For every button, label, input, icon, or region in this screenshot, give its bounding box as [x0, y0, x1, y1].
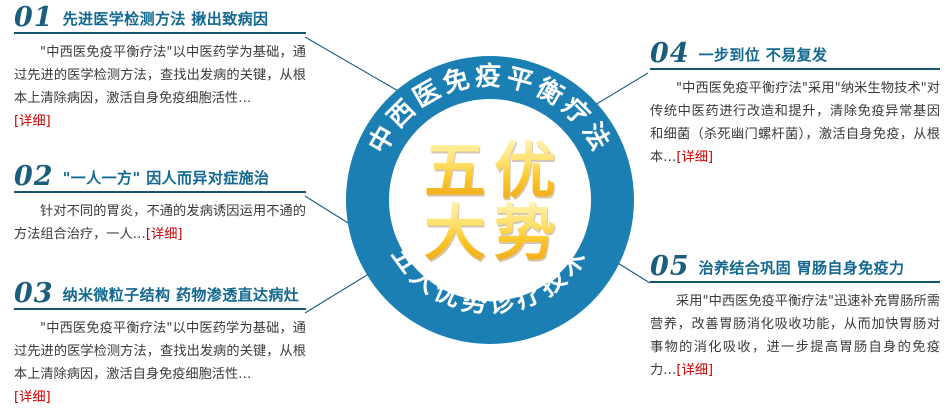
feature-heading-05: 05 治养结合巩固 胃肠自身免疫力 [650, 253, 940, 280]
feature-paragraph-05: 采用"中西医免疫平衡疗法"迅速补充胃肠所需营养，改善胃肠消化吸收功能，从而加快胃… [650, 290, 940, 382]
badge-ring: 中西医免疫平衡疗法 五大优势诊疗技术 [345, 55, 635, 345]
feature-number-05: 05 [650, 253, 690, 280]
feature-heading-03: 03 纳米微粒子结构 药物渗透直达病灶 [14, 280, 306, 307]
feature-rule-01 [14, 32, 306, 34]
center-badge: 中西医免疫平衡疗法 五大优势诊疗技术 五 优 大 势 [345, 55, 635, 345]
feature-rule-03 [14, 308, 306, 310]
feature-block-05: 05 治养结合巩固 胃肠自身免疫力 采用"中西医免疫平衡疗法"迅速补充胃肠所需营… [650, 253, 940, 382]
feature-title-02: "一人一方" 因人而异对症施治 [63, 167, 270, 188]
feature-heading-04: 04 一步到位 不易复发 [650, 40, 940, 67]
advantages-infographic: 中西医免疫平衡疗法 五大优势诊疗技术 五 优 大 势 01 先进医学检测方法 揪… [0, 0, 950, 414]
feature-title-03: 纳米微粒子结构 药物渗透直达病灶 [63, 284, 300, 305]
feature-heading-01: 01 先进医学检测方法 揪出致病因 [14, 4, 306, 31]
feature-heading-02: 02 "一人一方" 因人而异对症施治 [14, 163, 306, 190]
feature-block-04: 04 一步到位 不易复发 "中西医免疫平衡疗法"采用"纳米生物技术"对传统中医药… [650, 40, 940, 169]
feature-more-link-02[interactable]: [详细] [146, 227, 183, 242]
feature-paragraph-02: 针对不同的胃炎，不通的发病诱因运用不通的方法组合治疗，一人…[详细] [14, 200, 306, 246]
feature-number-01: 01 [14, 4, 54, 31]
feature-rule-02 [14, 191, 306, 193]
feature-number-03: 03 [14, 280, 54, 307]
feature-block-01: 01 先进医学检测方法 揪出致病因 "中西医免疫平衡疗法"以中医药学为基础，通过… [14, 4, 306, 133]
feature-rule-04 [650, 68, 940, 70]
feature-paragraph-01: "中西医免疫平衡疗法"以中医药学为基础，通过先进的医学检测方法，查找出发病的关键… [14, 41, 306, 110]
feature-title-01: 先进医学检测方法 揪出致病因 [63, 8, 269, 29]
feature-more-link-04[interactable]: [详细] [676, 150, 713, 165]
feature-paragraph-04: "中西医免疫平衡疗法"采用"纳米生物技术"对传统中医药进行改造和提升，清除免疫异… [650, 77, 940, 169]
feature-block-03: 03 纳米微粒子结构 药物渗透直达病灶 "中西医免疫平衡疗法"以中医药学为基础，… [14, 280, 306, 409]
feature-title-05: 治养结合巩固 胃肠自身免疫力 [699, 257, 905, 278]
feature-more-link-05[interactable]: [详细] [676, 363, 713, 378]
feature-number-02: 02 [14, 163, 54, 190]
feature-number-04: 04 [650, 40, 690, 67]
feature-block-02: 02 "一人一方" 因人而异对症施治 针对不同的胃炎，不通的发病诱因运用不通的方… [14, 163, 306, 246]
feature-more-link-03[interactable]: [详细] [14, 386, 306, 409]
feature-paragraph-03: "中西医免疫平衡疗法"以中医药学为基础，通过先进的医学检测方法，查找出发病的关键… [14, 317, 306, 386]
feature-title-04: 一步到位 不易复发 [699, 44, 828, 65]
feature-rule-05 [650, 281, 940, 283]
feature-more-link-01[interactable]: [详细] [14, 110, 306, 133]
